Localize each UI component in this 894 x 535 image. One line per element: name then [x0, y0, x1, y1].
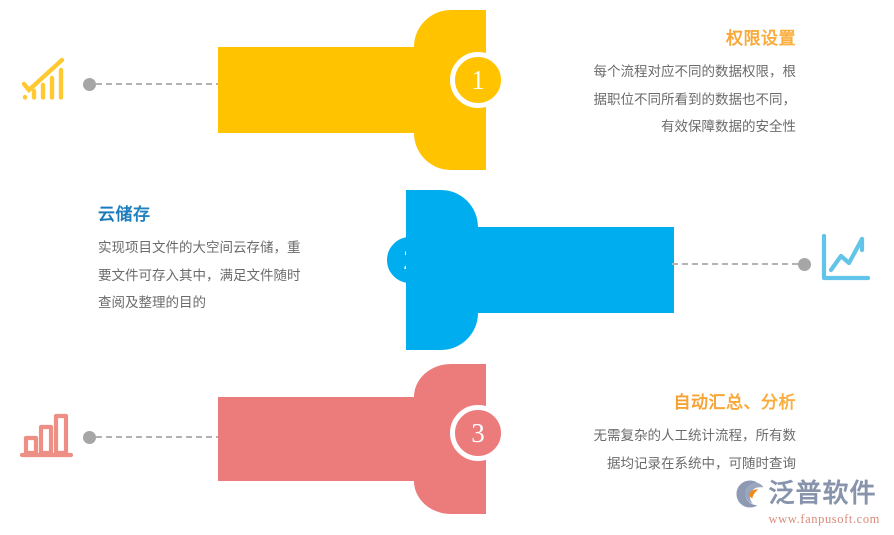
- section-text-3: 自动汇总、分析 无需复杂的人工统计流程，所有数 据均记录在系统中，可随时查询: [518, 392, 796, 477]
- brand-url: www.fanpusoft.com: [769, 512, 880, 527]
- section-body-2: 实现项目文件的大空间云存储，重 要文件可存入其中，满足文件随时 查阅及整理的目的: [98, 234, 376, 317]
- body-line: 每个流程对应不同的数据权限，根: [518, 58, 796, 86]
- section-body-3: 无需复杂的人工统计流程，所有数 据均记录在系统中，可随时查询: [518, 422, 796, 477]
- step-badge-1: 1: [450, 52, 506, 108]
- brand-row: 泛普软件: [735, 479, 877, 509]
- body-line: 有效保障数据的安全性: [518, 113, 796, 141]
- section-text-1: 权限设置 每个流程对应不同的数据权限，根 据职位不同所看到的数据也不同， 有效保…: [518, 28, 796, 141]
- connector-line-2: [672, 257, 811, 271]
- connector-line-1: [83, 77, 222, 91]
- section-title-2: 云储存: [98, 204, 376, 227]
- body-line: 无需复杂的人工统计流程，所有数: [518, 422, 796, 450]
- step-number: 1: [471, 67, 485, 94]
- funnel-arrow-2: [388, 190, 674, 350]
- body-line: 实现项目文件的大空间云存储，重: [98, 234, 376, 262]
- body-line: 据职位不同所看到的数据也不同，: [518, 86, 796, 114]
- step-badge-3: 3: [450, 405, 506, 461]
- connector-dot: [798, 258, 811, 271]
- brand-logo: 泛普软件 www.fanpusoft.com: [735, 479, 880, 527]
- connector-dash: [96, 436, 222, 438]
- connector-dash: [672, 263, 798, 265]
- body-line: 查阅及整理的目的: [98, 289, 376, 317]
- body-line: 据均记录在系统中，可随时查询: [518, 450, 796, 478]
- section-text-2: 云储存 实现项目文件的大空间云存储，重 要文件可存入其中，满足文件随时 查阅及整…: [98, 204, 376, 317]
- connector-dot: [83, 431, 96, 444]
- fanpu-swoosh-logo-icon: [735, 479, 765, 509]
- section-title-3: 自动汇总、分析: [518, 392, 796, 415]
- connector-dot: [83, 78, 96, 91]
- section-row-2: 云储存 实现项目文件的大空间云存储，重 要文件可存入其中，满足文件随时 查阅及整…: [0, 180, 894, 360]
- step-number: 3: [471, 420, 485, 447]
- infographic-canvas: 1 权限设置 每个流程对应不同的数据权限，根 据职位不同所看到的数据也不同， 有…: [0, 0, 894, 535]
- section-body-1: 每个流程对应不同的数据权限，根 据职位不同所看到的数据也不同， 有效保障数据的安…: [518, 58, 796, 141]
- connector-dash: [96, 83, 222, 85]
- body-line: 要文件可存入其中，满足文件随时: [98, 262, 376, 290]
- brand-name: 泛普软件: [769, 481, 877, 507]
- connector-line-3: [83, 430, 222, 444]
- line-chart-icon: [814, 228, 876, 290]
- bar-chart-icon: [16, 405, 78, 467]
- section-row-1: 1 权限设置 每个流程对应不同的数据权限，根 据职位不同所看到的数据也不同， 有…: [0, 0, 894, 180]
- section-title-1: 权限设置: [518, 28, 796, 51]
- growth-bar-chart-icon: [16, 48, 78, 110]
